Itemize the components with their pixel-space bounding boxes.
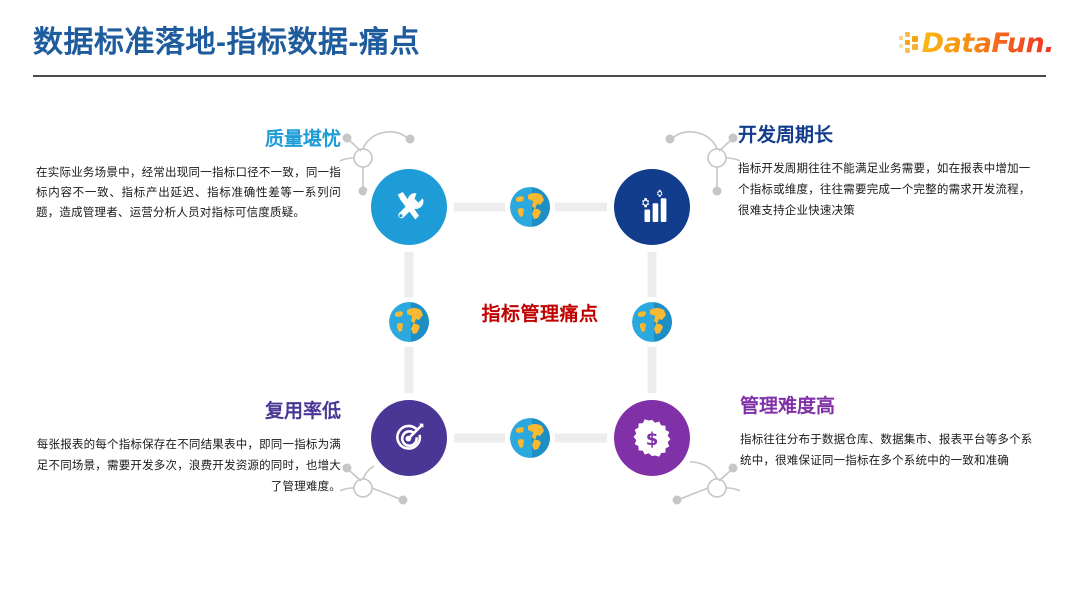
pain-point-dev-cycle-heading: 开发周期长 bbox=[738, 126, 1038, 147]
page-title: 数据标准落地-指标数据-痛点 bbox=[33, 17, 420, 61]
globe-icon-right bbox=[632, 302, 672, 342]
pain-point-reuse-heading: 复用率低 bbox=[36, 402, 341, 423]
dollar-badge-icon: $ bbox=[632, 418, 672, 458]
pain-point-quality-heading: 质量堪忧 bbox=[36, 130, 341, 151]
pain-point-management-body: 指标往往分布于数据仓库、数据集市、报表平台等多个系统中，很难保证同一指标在多个系… bbox=[740, 429, 1040, 472]
pain-point-management-heading: 管理难度高 bbox=[740, 397, 1040, 418]
title-divider bbox=[33, 75, 1046, 77]
pain-point-dev-cycle-body: 指标开发周期往往不能满足业务需要，如在报表中增加一个指标或维度，往往需要完成一个… bbox=[738, 158, 1038, 222]
globe-icon-left bbox=[389, 302, 429, 342]
node-reuse[interactable] bbox=[371, 400, 447, 476]
pain-point-reuse-body: 每张报表的每个指标保存在不同结果表中，即同一指标为满足不同场景，需要开发多次，浪… bbox=[36, 434, 341, 498]
node-management[interactable]: $ bbox=[614, 400, 690, 476]
target-icon bbox=[389, 418, 429, 458]
node-dev-cycle[interactable] bbox=[614, 169, 690, 245]
datafun-logo: DataFun. bbox=[899, 28, 1054, 58]
globe-icon-bottom bbox=[510, 418, 550, 458]
pain-point-quality-block: 质量堪忧 在实际业务场景中，经常出现同一指标口径不一致，同一指标内容不一致、指标… bbox=[36, 130, 341, 222]
pain-point-management-block: 管理难度高 指标往往分布于数据仓库、数据集市、报表平台等多个系统中，很难保证同一… bbox=[740, 397, 1040, 471]
pain-point-dev-cycle-block: 开发周期长 指标开发周期往往不能满足业务需要，如在报表中增加一个指标或维度，往往… bbox=[738, 126, 1038, 222]
logo-dot-pattern-icon bbox=[899, 32, 921, 54]
pain-point-quality-body: 在实际业务场景中，经常出现同一指标口径不一致，同一指标内容不一致、指标产出延迟、… bbox=[36, 162, 341, 222]
logo-wordmark: DataFun. bbox=[922, 30, 1054, 57]
tools-icon bbox=[389, 187, 429, 227]
node-quality[interactable] bbox=[371, 169, 447, 245]
svg-text:$: $ bbox=[646, 429, 659, 450]
globe-icon-top bbox=[510, 187, 550, 227]
pain-point-reuse-block: 复用率低 每张报表的每个指标保存在不同结果表中，即同一指标为满足不同场景，需要开… bbox=[36, 402, 341, 498]
pain-point-diagram: 指标管理痛点 bbox=[340, 128, 740, 528]
bar-chart-gear-icon bbox=[632, 187, 672, 227]
